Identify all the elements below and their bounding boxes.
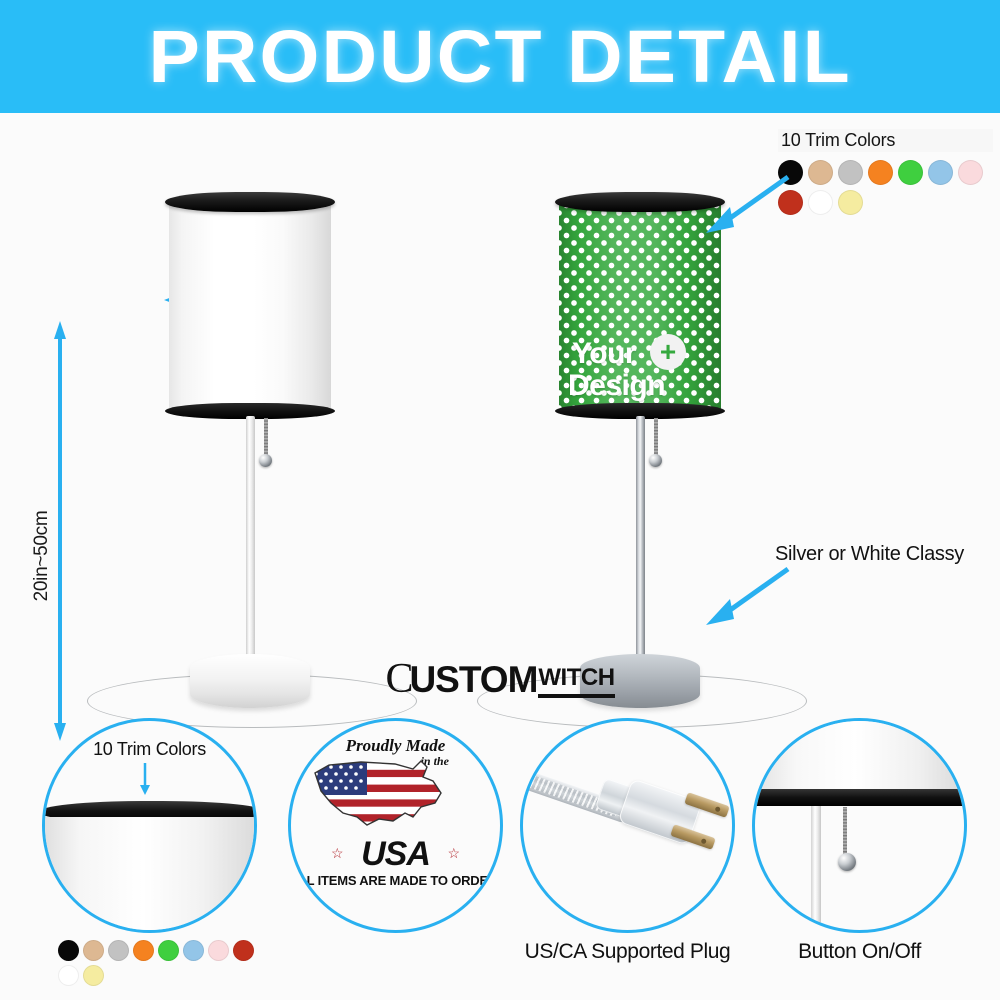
usa-big-text: USA <box>361 835 430 874</box>
feature-swatch-gray[interactable] <box>108 940 129 961</box>
feature-swatch-yellow[interactable] <box>83 965 104 986</box>
feature-switch: Button On/Off <box>752 718 967 933</box>
trim-swatch-yellow[interactable] <box>838 190 863 215</box>
white-lamp-shade <box>169 198 331 413</box>
feature-plug: US/CA Supported Plug <box>520 718 735 933</box>
white-lamp-chain-bead[interactable] <box>259 454 272 467</box>
feature-trim-colors: 10 Trim Colors <box>42 718 257 933</box>
product-detail-page: PRODUCT DETAIL 7in~18cm 20in~50cm <box>0 0 1000 1000</box>
trim-swatch-tan[interactable] <box>808 160 833 185</box>
white-lamp <box>160 198 340 728</box>
feature-swatch-green[interactable] <box>158 940 179 961</box>
brand-witch-text: WITCH <box>538 663 614 698</box>
white-lamp-pull-chain[interactable] <box>264 418 268 458</box>
trim-colors-down-arrow-icon <box>137 763 153 795</box>
made-in-usa-circle: Proudly Made in the <box>288 718 503 933</box>
brand-custom-text: USTOM <box>409 661 537 698</box>
green-design-lamp: Your + Design <box>550 198 730 728</box>
feature-swatch-pink[interactable] <box>208 940 229 961</box>
header-banner: PRODUCT DETAIL <box>0 0 1000 113</box>
add-design-plus-icon[interactable]: + <box>650 334 686 370</box>
usa-star-left-icon: ☆ <box>331 845 344 862</box>
trim-swatch-gray[interactable] <box>838 160 863 185</box>
switch-pull-chain[interactable] <box>843 807 847 857</box>
brand-logo: C USTOM WITCH <box>0 660 1000 698</box>
white-lamp-top-trim <box>165 192 335 212</box>
usa-flag-map-icon <box>309 755 447 829</box>
trim-colors-circle: 10 Trim Colors <box>42 718 257 933</box>
switch-caption: Button On/Off <box>752 940 967 964</box>
height-dimension-label: 20in~50cm <box>31 496 53 616</box>
hero-section: 7in~18cm 20in~50cm <box>0 113 1000 708</box>
usa-title-text: Proudly Made <box>346 736 446 756</box>
trim-swatch-light-blue[interactable] <box>928 160 953 185</box>
design-text-line1: Your <box>572 338 636 370</box>
trim-swatch-white[interactable] <box>808 190 833 215</box>
trim-colors-pointer-arrow-icon <box>700 171 796 235</box>
trim-colors-heading: 10 Trim Colors <box>778 129 993 152</box>
features-row: 10 Trim Colors <box>0 718 1000 1000</box>
trim-colors-circle-label: 10 Trim Colors <box>93 739 206 760</box>
switch-circle-pole <box>811 806 821 933</box>
usa-star-right-icon: ☆ <box>447 845 460 862</box>
switch-circle-shade <box>755 721 964 793</box>
trim-swatch-orange[interactable] <box>868 160 893 185</box>
feature-trim-swatches <box>58 940 258 986</box>
trim-colors-panel: 10 Trim Colors <box>778 129 993 215</box>
white-shade-surface <box>169 198 331 413</box>
feature-made-in-usa: Proudly Made in the <box>288 718 503 933</box>
trim-swatch-green[interactable] <box>898 160 923 185</box>
plug-circle <box>520 718 735 933</box>
base-finish-callout: Silver or White Classy <box>775 543 964 566</box>
green-lamp-pull-chain[interactable] <box>654 418 658 458</box>
plus-symbol: + <box>660 338 676 366</box>
trim-color-swatches <box>778 160 993 215</box>
switch-circle <box>752 718 967 933</box>
design-text-line2: Design <box>568 370 665 402</box>
page-title: PRODUCT DETAIL <box>148 14 851 99</box>
feature-swatch-light-blue[interactable] <box>183 940 204 961</box>
feature-swatch-white[interactable] <box>58 965 79 986</box>
trim-colors-circle-shade <box>42 817 257 933</box>
usa-sub-text: ALL ITEMS ARE MADE TO ORDER! <box>290 873 502 888</box>
switch-circle-trim-band <box>752 789 967 806</box>
feature-swatch-orange[interactable] <box>133 940 154 961</box>
green-lamp-chain-bead[interactable] <box>649 454 662 467</box>
plug-caption: US/CA Supported Plug <box>520 940 735 964</box>
base-finish-pointer-arrow-icon <box>700 563 796 627</box>
trim-swatch-pink[interactable] <box>958 160 983 185</box>
feature-swatch-dark-red[interactable] <box>233 940 254 961</box>
feature-swatch-tan[interactable] <box>83 940 104 961</box>
feature-swatch-black[interactable] <box>58 940 79 961</box>
switch-chain-bead[interactable] <box>838 853 856 871</box>
